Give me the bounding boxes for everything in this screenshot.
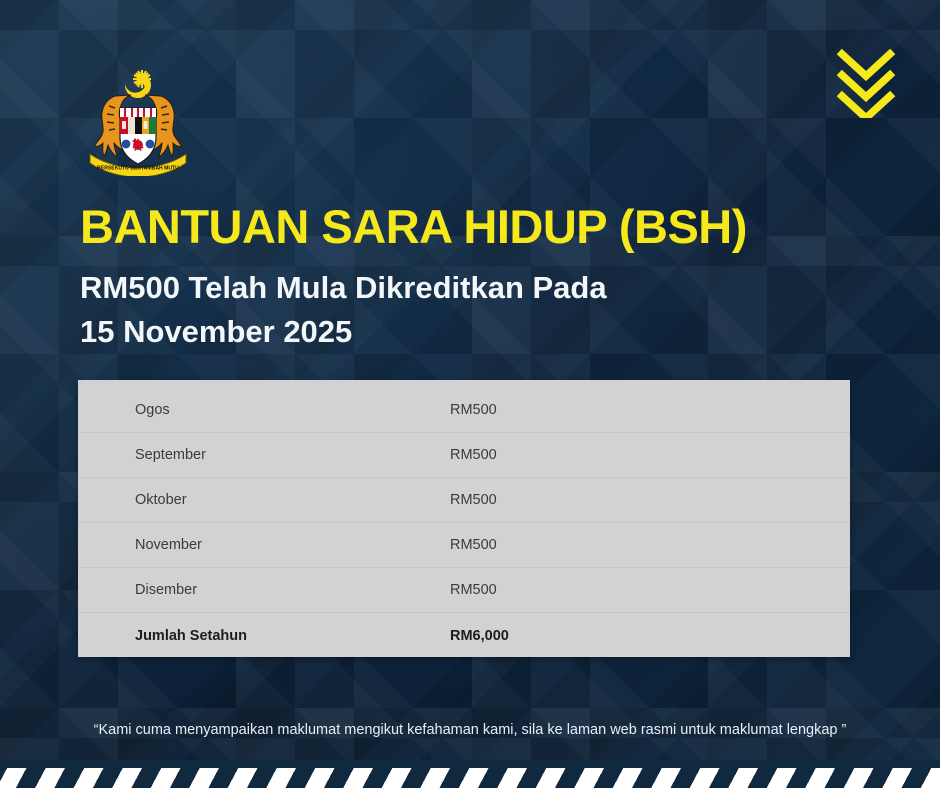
payment-schedule-table: Ogos RM500 September RM500 Oktober RM500… (78, 380, 850, 657)
stripe-band-backing (0, 760, 940, 768)
page-subtitle: RM500 Telah Mula Dikreditkan Pada 15 Nov… (80, 266, 900, 354)
diagonal-stripe-band (0, 768, 940, 788)
subtitle-line-2: 15 November 2025 (80, 310, 900, 354)
row-month-label: September (135, 447, 450, 463)
table-row: Ogos RM500 (78, 388, 850, 433)
table-row: September RM500 (78, 433, 850, 478)
row-month-label: November (135, 537, 450, 553)
row-amount-value: RM500 (450, 537, 497, 553)
row-amount-value: RM500 (450, 447, 497, 463)
row-amount-value: RM500 (450, 582, 497, 598)
triple-chevron-down-icon (836, 46, 896, 118)
malaysia-coat-of-arms-icon: BERSEKUTU BERTAMBAH MUTU (76, 66, 200, 176)
row-amount-value: RM500 (450, 492, 497, 508)
poster-canvas: BERSEKUTU BERTAMBAH MUTU BANTUAN SARA HI… (0, 0, 940, 788)
row-month-label: Disember (135, 582, 450, 598)
table-row: Disember RM500 (78, 568, 850, 613)
headings-block: BANTUAN SARA HIDUP (BSH) RM500 Telah Mul… (80, 200, 900, 354)
total-value: RM6,000 (450, 628, 509, 644)
page-title: BANTUAN SARA HIDUP (BSH) (80, 200, 900, 254)
subtitle-line-1: RM500 Telah Mula Dikreditkan Pada (80, 266, 900, 310)
row-amount-value: RM500 (450, 402, 497, 418)
total-label: Jumlah Setahun (135, 628, 450, 644)
row-month-label: Ogos (135, 402, 450, 418)
table-row: Oktober RM500 (78, 478, 850, 523)
row-month-label: Oktober (135, 492, 450, 508)
disclaimer-text: “Kami cuma menyampaikan maklumat mengiku… (0, 722, 940, 738)
table-row-total: Jumlah Setahun RM6,000 (78, 613, 850, 658)
table-row: November RM500 (78, 523, 850, 568)
emblem-motto-text: BERSEKUTU BERTAMBAH MUTU (97, 166, 179, 172)
